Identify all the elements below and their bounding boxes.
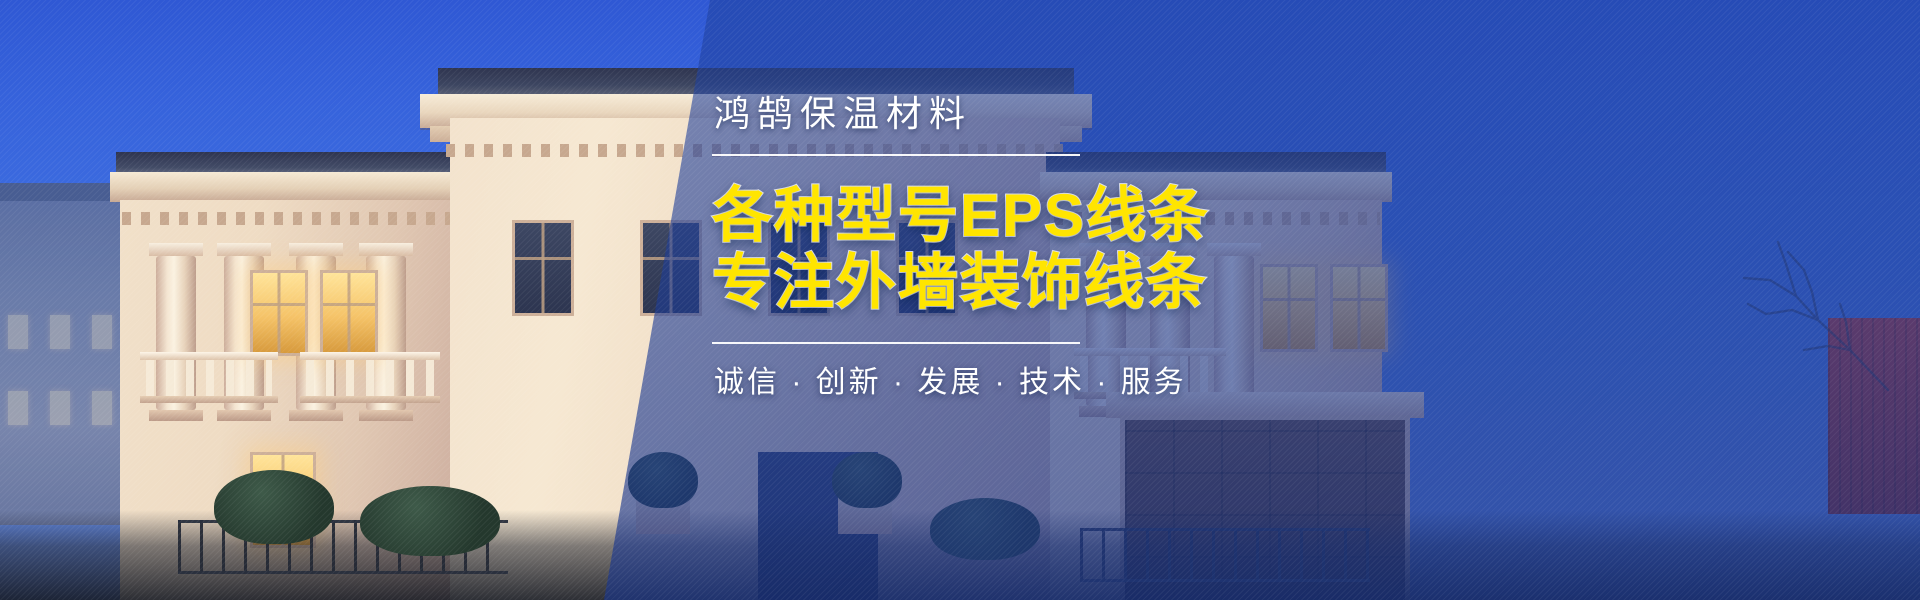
window-dark — [512, 220, 574, 316]
shrub — [214, 470, 334, 544]
window-lit — [320, 270, 378, 356]
brand-name: 鸿鹄保温材料 — [714, 96, 1472, 132]
divider-top — [712, 154, 1080, 156]
balustrade — [306, 360, 434, 396]
window-lit — [250, 270, 308, 356]
shrub — [360, 486, 500, 556]
headline-line-1: 各种型号EPS线条 — [712, 182, 1472, 249]
left-wing-dentils — [122, 212, 452, 225]
headline-line-2: 专注外墙装饰线条 — [712, 249, 1472, 316]
left-wing-roof-cap — [116, 152, 456, 174]
hero-banner: 鸿鹄保温材料 各种型号EPS线条 专注外墙装饰线条 诚信 · 创新 · 发展 ·… — [0, 0, 1920, 600]
banner-text-block: 鸿鹄保温材料 各种型号EPS线条 专注外墙装饰线条 诚信 · 创新 · 发展 ·… — [712, 96, 1472, 398]
left-wing-roof — [110, 172, 462, 202]
tagline: 诚信 · 创新 · 发展 · 技术 · 服务 — [714, 368, 1472, 398]
divider-bottom — [712, 342, 1080, 344]
balustrade — [146, 360, 272, 396]
